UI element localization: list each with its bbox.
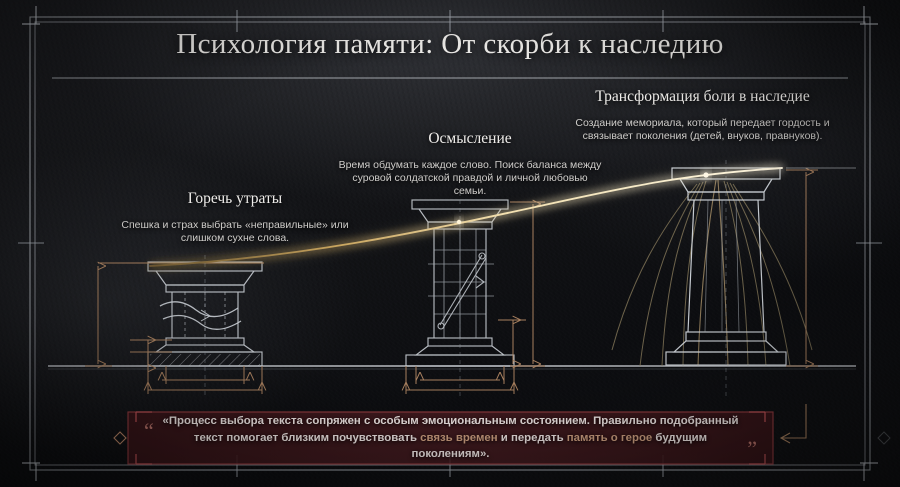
quote-part-2: и передать [498,432,567,444]
pillar-1-dimensions [85,263,264,394]
page-title: Психология памяти: От скорби к наследию [0,28,900,61]
pillar-3-dimensions [786,170,818,366]
stage-2-description: Время обдумать каждое слово. Поиск балан… [335,159,605,199]
stage-1-description: Спешка и страх выбрать «неправильные» ил… [110,219,360,246]
pillar-2-scaffold [428,229,494,338]
stage-3-description: Создание мемориала, который передает гор… [565,117,840,144]
quote-connector-arrow [781,404,806,443]
stage-block-3: Трансформация боли в наследие Создание м… [565,88,840,154]
quote-text: «Процесс выбора текста сопряжен с особым… [128,412,773,464]
quote-highlight-1: связь времен [420,432,497,444]
stage-1-heading: Горечь утраты [110,190,360,208]
quote-box: “ «Процесс выбора текста сопряжен с особ… [128,412,773,464]
quote-highlight-2: память о герое [567,432,653,444]
infographic-canvas: Психология памяти: От скорби к наследию … [0,0,900,487]
stage-3-heading: Трансформация боли в наследие [565,88,840,106]
quote-diamond-marker [114,432,126,444]
quote-close-mark: ” [747,438,757,460]
stage-block-1: Горечь утраты Спешка и страх выбрать «не… [110,190,360,256]
